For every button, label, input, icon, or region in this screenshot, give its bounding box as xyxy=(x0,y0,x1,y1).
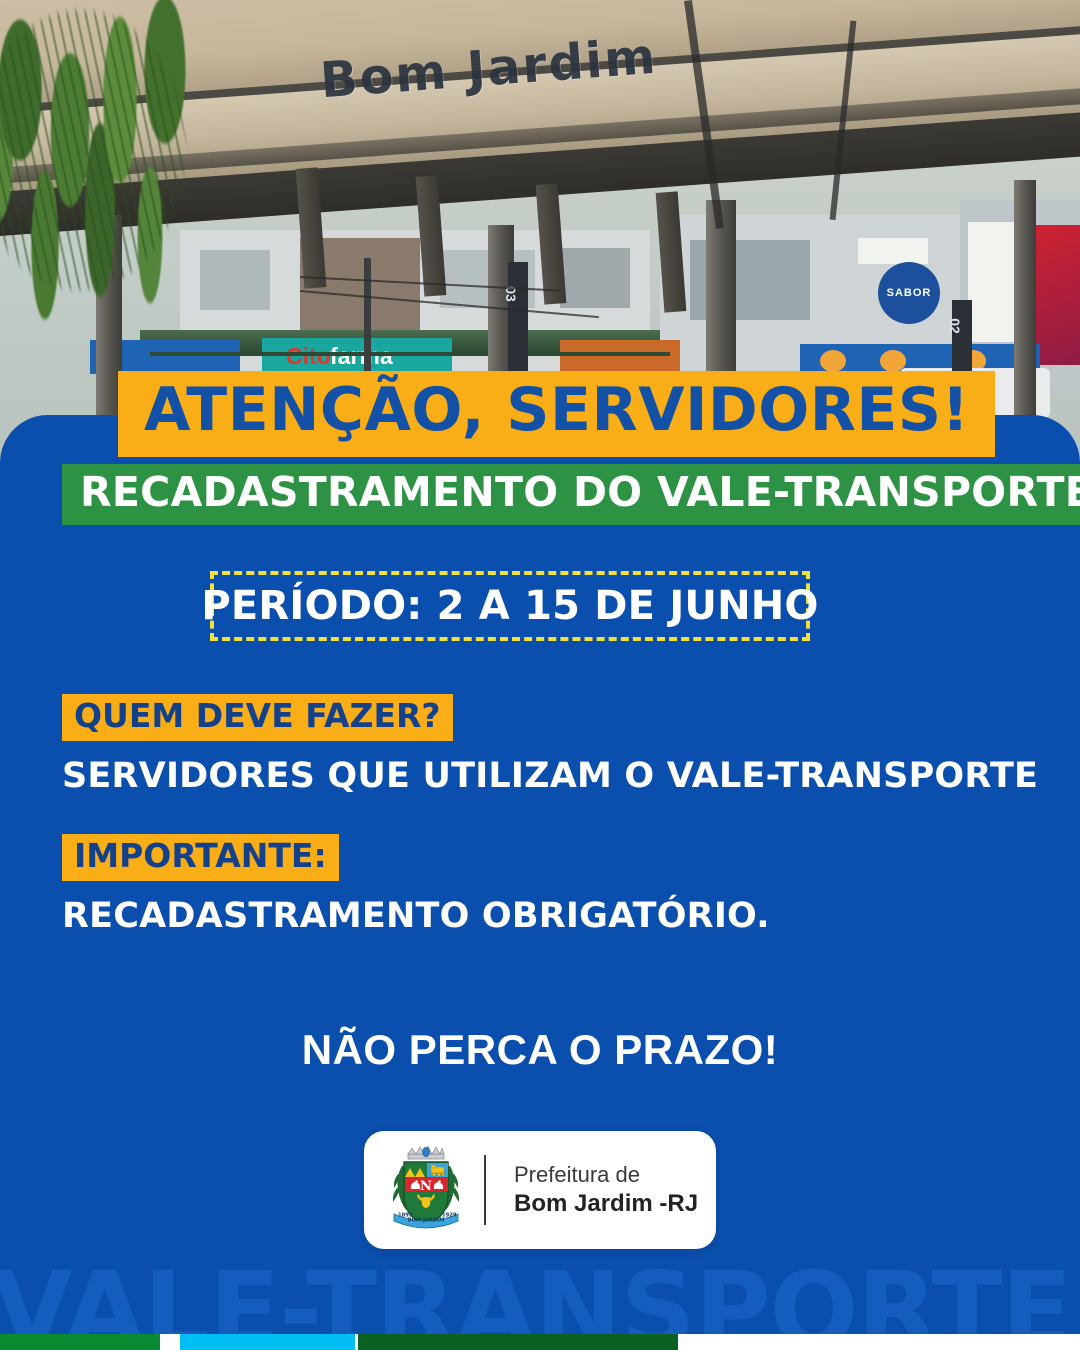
crest-year-left: 1893 xyxy=(398,1213,413,1219)
logo-divider xyxy=(484,1155,486,1225)
bottom-color-bar xyxy=(0,1334,1080,1350)
call-to-action: NÃO PERCA O PRAZO! xyxy=(0,1026,1080,1074)
logo-text-block: Prefeitura de Bom Jardim -RJ xyxy=(500,1161,698,1219)
poster-canvas: SABOR Cito farma Bom Jardim xyxy=(0,0,1080,1350)
utility-pole xyxy=(364,258,371,378)
period-box: PERÍODO: 2 A 15 DE JUNHO xyxy=(210,571,810,641)
white-board xyxy=(968,222,1020,342)
bar-segment-cyan xyxy=(180,1334,355,1350)
tag-quem-deve-fazer: QUEM DEVE FAZER? xyxy=(62,694,453,741)
window xyxy=(560,248,630,308)
coat-of-arms-icon: N BOM JARDIM 1893 1929 xyxy=(384,1144,468,1236)
crest-monogram: N xyxy=(420,1179,432,1194)
bar-segment-dark-green xyxy=(358,1334,678,1350)
platform-number-02: 02 xyxy=(947,318,963,334)
period-text: PERÍODO: 2 A 15 DE JUNHO xyxy=(201,583,818,629)
logo-line-2: Bom Jardim -RJ xyxy=(514,1189,698,1219)
text-importante: RECADASTRAMENTO OBRIGATÓRIO. xyxy=(62,899,770,934)
farma-text: farma xyxy=(330,343,393,370)
sabor-sign: SABOR xyxy=(878,262,940,324)
headline-subtitle: RECADASTRAMENTO DO VALE-TRANSPORTE xyxy=(62,464,1080,525)
bar-segment-green xyxy=(0,1334,160,1350)
text-quem-deve-fazer: SERVIDORES QUE UTILIZAM O VALE-TRANSPORT… xyxy=(62,759,1038,794)
cito-text: Cito xyxy=(286,343,331,370)
tag-importante: IMPORTANTE: xyxy=(62,834,339,881)
foreground-tree xyxy=(0,0,290,410)
headline-attention: ATENÇÃO, SERVIDORES! xyxy=(118,371,995,457)
aluga-se-sign xyxy=(858,238,928,264)
crest-motto: BOM JARDIM xyxy=(408,1218,445,1224)
prefeitura-logo-card: N BOM JARDIM 1893 1929 Prefeitura de Bom… xyxy=(364,1131,716,1249)
logo-line-1: Prefeitura de xyxy=(514,1161,698,1189)
crest-year-right: 1929 xyxy=(442,1213,457,1219)
shop-logo-dot xyxy=(820,350,846,372)
